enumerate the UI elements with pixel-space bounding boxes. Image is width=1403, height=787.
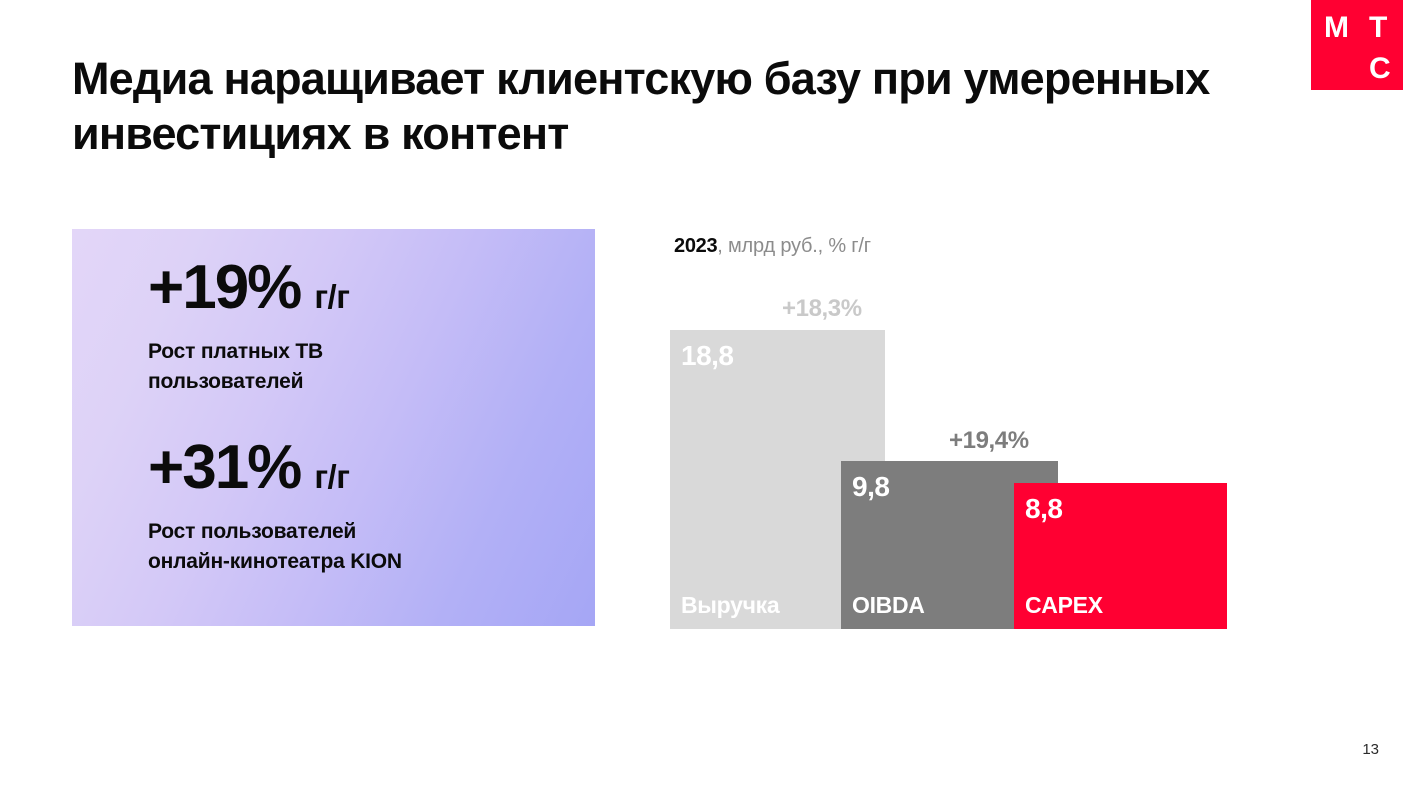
kpi-item-tv: +19% г/г Рост платных ТВ пользователей	[148, 257, 349, 397]
kpi-value-row: +19% г/г	[148, 257, 349, 319]
logo-letter-m: М	[1324, 13, 1350, 43]
bar-value-revenue: 18,8	[681, 342, 734, 370]
logo-letter-t: Т	[1369, 13, 1388, 43]
chart-subtitle-meta: , млрд руб., % г/г	[717, 235, 871, 257]
bar-chart: 2023, млрд руб., % г/г +18,3% 18,8 Выруч…	[670, 236, 1270, 636]
chart-subtitle: 2023, млрд руб., % г/г	[674, 236, 871, 256]
bar-value-capex: 8,8	[1025, 495, 1062, 523]
slide-root: М Т С Медиа наращивает клиентскую базу п…	[0, 0, 1403, 787]
bar-growth-label-revenue: +18,3%	[782, 297, 862, 321]
mts-logo: М Т С	[1311, 0, 1403, 90]
kpi-description: Рост платных ТВ пользователей	[148, 337, 349, 397]
logo-letter-s: С	[1369, 54, 1391, 84]
bar-growth-label-oibda: +19,4%	[949, 429, 1029, 453]
kpi-unit: г/г	[314, 280, 349, 313]
kpi-description: Рост пользователей онлайн-кинотеатра KIO…	[148, 517, 402, 577]
kpi-value: +31%	[148, 437, 300, 499]
bar-category-revenue: Выручка	[681, 594, 779, 617]
page-title: Медиа наращивает клиентскую базу при уме…	[72, 52, 1212, 162]
chart-subtitle-year: 2023	[674, 235, 717, 257]
kpi-value: +19%	[148, 257, 300, 319]
page-number: 13	[1362, 742, 1379, 757]
kpi-value-row: +31% г/г	[148, 437, 402, 499]
kpi-card: +19% г/г Рост платных ТВ пользователей +…	[72, 229, 595, 626]
bar-category-capex: CAPEX	[1025, 594, 1103, 617]
bar-category-oibda: OIBDA	[852, 594, 925, 617]
bar-capex: 8,8 CAPEX	[1014, 483, 1227, 629]
kpi-unit: г/г	[314, 460, 349, 493]
kpi-item-kion: +31% г/г Рост пользователей онлайн-кинот…	[148, 437, 402, 577]
bar-value-oibda: 9,8	[852, 473, 889, 501]
